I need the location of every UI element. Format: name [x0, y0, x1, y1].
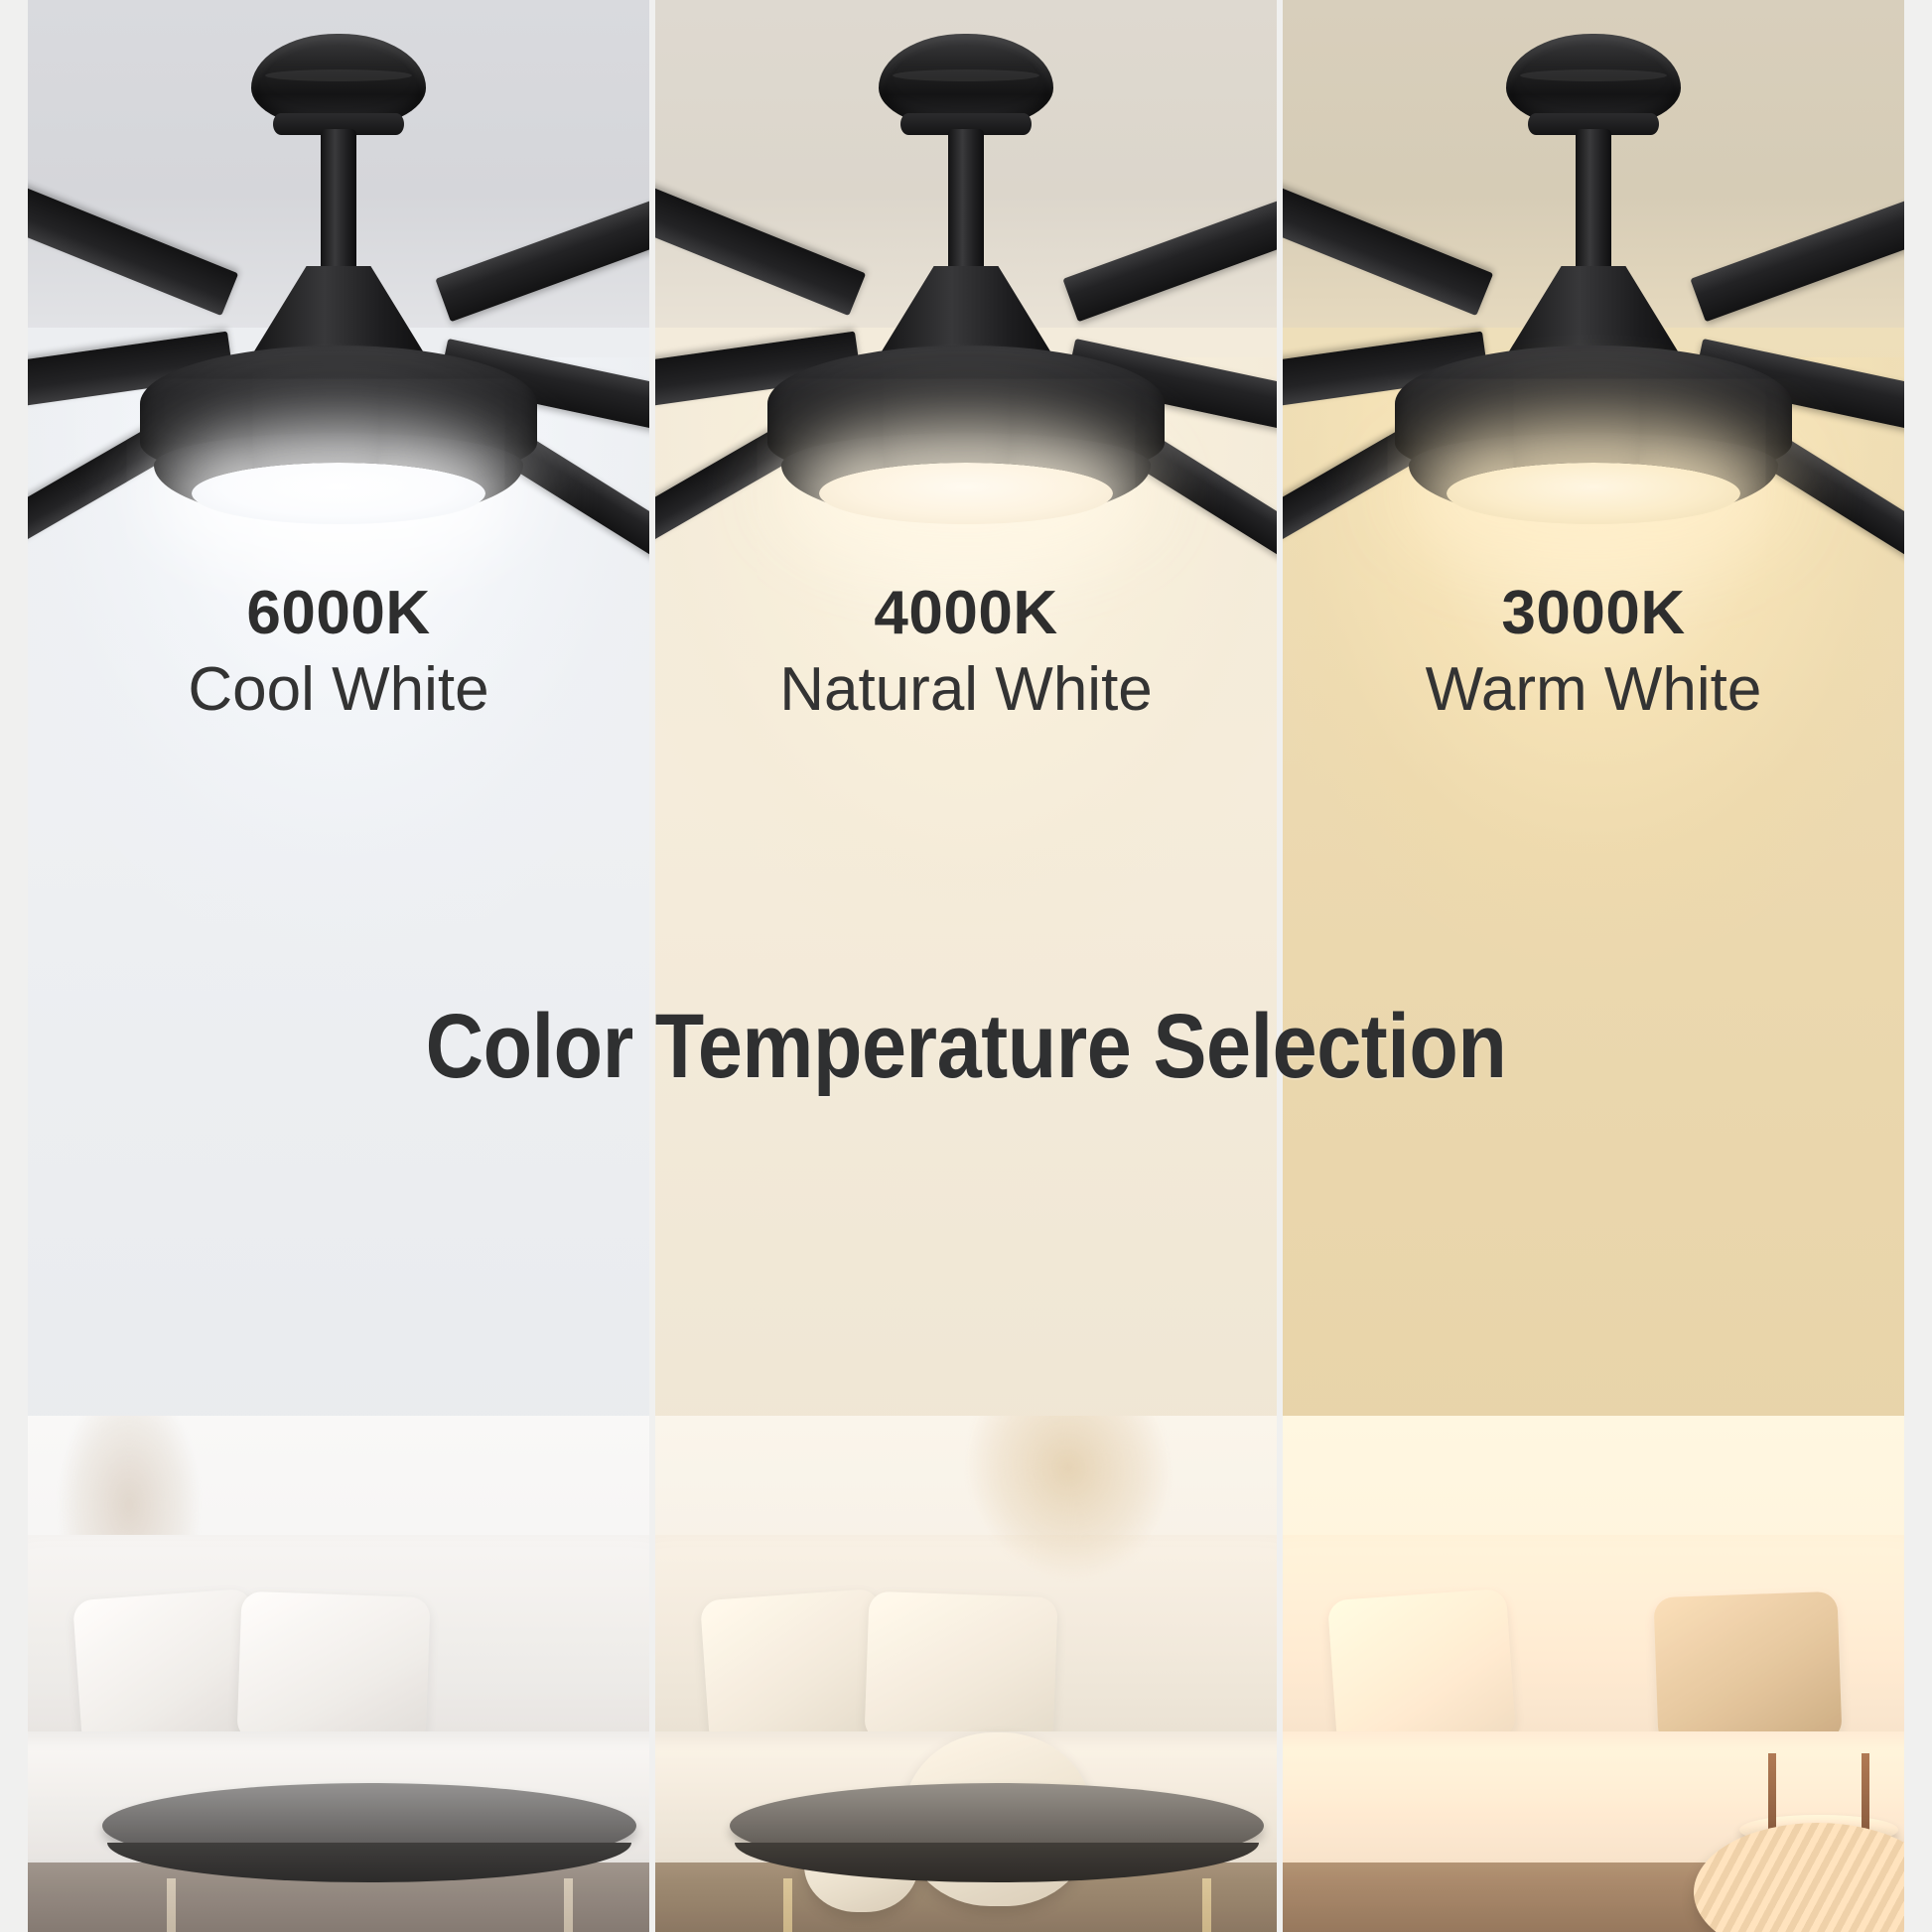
kelvin-value-cool: 6000K — [28, 581, 649, 645]
panel-warm-white[interactable]: 3000K Warm White — [1283, 0, 1904, 1932]
label-group-cool: 6000K Cool White — [28, 581, 649, 729]
throw-pillow — [1327, 1588, 1516, 1749]
table-leg — [1202, 1878, 1211, 1932]
fan-downrod — [321, 129, 356, 278]
table-edge — [107, 1843, 631, 1882]
light-diffuser — [1447, 463, 1740, 524]
tone-name-natural: Natural White — [655, 651, 1277, 729]
coffee-table — [102, 1783, 636, 1932]
fan-blade — [435, 167, 649, 322]
fan-downrod — [1576, 129, 1611, 278]
table-edge — [735, 1843, 1259, 1882]
table-leg — [564, 1878, 573, 1932]
kelvin-value-warm: 3000K — [1283, 581, 1904, 645]
fan-blade — [28, 151, 238, 316]
throw-pillow — [72, 1588, 261, 1749]
coffee-table — [730, 1783, 1264, 1932]
fan-blade — [1062, 167, 1277, 322]
throw-pillow-accent — [1653, 1591, 1842, 1746]
ceiling-fan-natural — [655, 18, 1277, 554]
fan-blade — [1283, 151, 1493, 316]
table-leg — [783, 1878, 792, 1932]
tone-name-warm: Warm White — [1283, 651, 1904, 729]
room-scene-cool — [28, 1416, 649, 1932]
throw-pillow — [700, 1588, 889, 1749]
ceiling-fan-cool — [28, 18, 649, 554]
room-scene-warm — [1283, 1416, 1904, 1932]
fan-blade — [655, 151, 866, 316]
light-diffuser — [192, 463, 485, 524]
product-infographic: 6000K Cool White — [0, 0, 1932, 1932]
label-group-natural: 4000K Natural White — [655, 581, 1277, 729]
color-temperature-panels: 6000K Cool White — [28, 0, 1904, 1932]
table-leg — [167, 1878, 176, 1932]
fan-downrod — [948, 129, 984, 278]
fan-blade — [1690, 167, 1904, 322]
light-diffuser — [819, 463, 1113, 524]
throw-pillow — [236, 1591, 430, 1747]
panel-cool-white[interactable]: 6000K Cool White — [28, 0, 649, 1932]
page-title: Color Temperature Selection — [116, 995, 1816, 1099]
room-scene-natural — [655, 1416, 1277, 1932]
panel-natural-white[interactable]: 4000K Natural White — [655, 0, 1277, 1932]
ceiling-fan-warm — [1283, 18, 1904, 554]
tone-name-cool: Cool White — [28, 651, 649, 729]
kelvin-value-natural: 4000K — [655, 581, 1277, 645]
label-group-warm: 3000K Warm White — [1283, 581, 1904, 729]
